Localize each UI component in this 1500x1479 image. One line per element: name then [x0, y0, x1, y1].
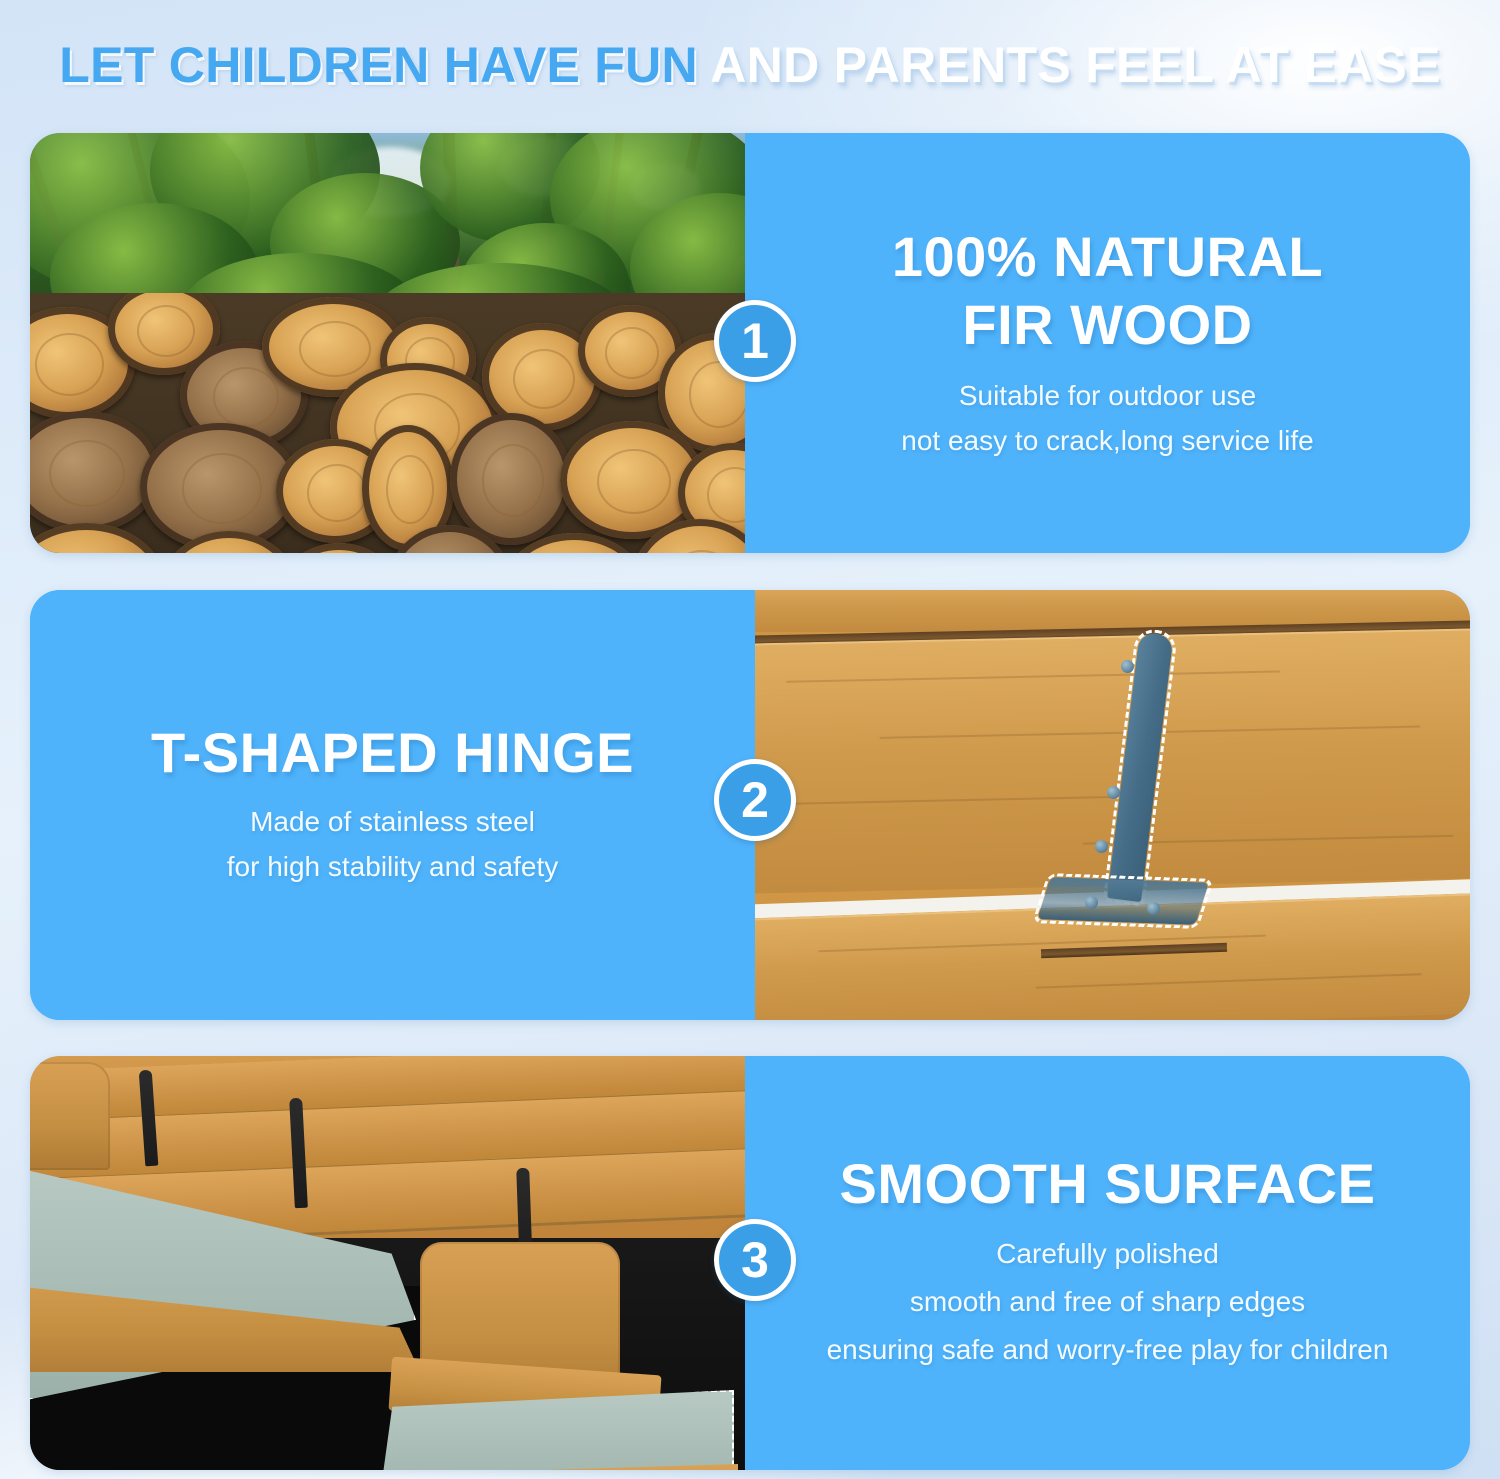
feature-subtitle-3-line-2: smooth and free of sharp edges	[807, 1278, 1409, 1326]
bench-illustration	[30, 1056, 745, 1470]
feature-subtitle-2-line-2: for high stability and safety	[207, 844, 579, 889]
feature-badge-2: 2	[714, 759, 796, 841]
feature-image-bench	[30, 1056, 745, 1470]
feature-title-3: SMOOTH SURFACE	[816, 1152, 1400, 1216]
feature-badge-3: 3	[714, 1219, 796, 1301]
feature-subtitle-2-line-1: Made of stainless steel	[207, 799, 579, 844]
feature-title-1-line-2: FIR WOOD	[892, 291, 1323, 359]
feature-subtitle-2: Made of stainless steel for high stabili…	[207, 799, 579, 889]
hinge-illustration	[755, 590, 1470, 1020]
feature-subtitle-3: Carefully polished smooth and free of sh…	[807, 1230, 1409, 1374]
feature-image-logs	[30, 133, 745, 553]
feature-title-2-line-1: T-SHAPED HINGE	[151, 721, 634, 785]
feature-image-hinge	[755, 590, 1470, 1020]
feature-panel-1: 100% NATURAL FIR WOOD Suitable for outdo…	[745, 133, 1470, 553]
headline-white-text: AND PARENTS FEEL AT EASE	[698, 37, 1441, 93]
feature-subtitle-3-line-3: ensuring safe and worry-free play for ch…	[807, 1326, 1409, 1374]
headline-blue-text: LET CHILDREN HAVE FUN	[59, 37, 698, 93]
feature-title-2: T-SHAPED HINGE	[127, 721, 658, 785]
feature-badge-1: 1	[714, 300, 796, 382]
feature-subtitle-1-line-2: not easy to crack,long service life	[881, 418, 1333, 463]
page-headline: LET CHILDREN HAVE FUN AND PARENTS FEEL A…	[0, 36, 1500, 94]
feature-panel-3: SMOOTH SURFACE Carefully polished smooth…	[745, 1056, 1470, 1470]
feature-subtitle-3-line-1: Carefully polished	[807, 1230, 1409, 1278]
logs-illustration	[30, 133, 745, 553]
feature-title-1-line-1: 100% NATURAL	[892, 223, 1323, 291]
hinge-base-plate	[1037, 877, 1209, 925]
feature-panel-2: T-SHAPED HINGE Made of stainless steel f…	[30, 590, 755, 1020]
feature-subtitle-1: Suitable for outdoor use not easy to cra…	[881, 373, 1333, 463]
feature-title-3-line-1: SMOOTH SURFACE	[840, 1152, 1376, 1216]
log-pile	[30, 293, 745, 553]
feature-title-1: 100% NATURAL FIR WOOD	[868, 223, 1347, 359]
feature-subtitle-1-line-1: Suitable for outdoor use	[881, 373, 1333, 418]
